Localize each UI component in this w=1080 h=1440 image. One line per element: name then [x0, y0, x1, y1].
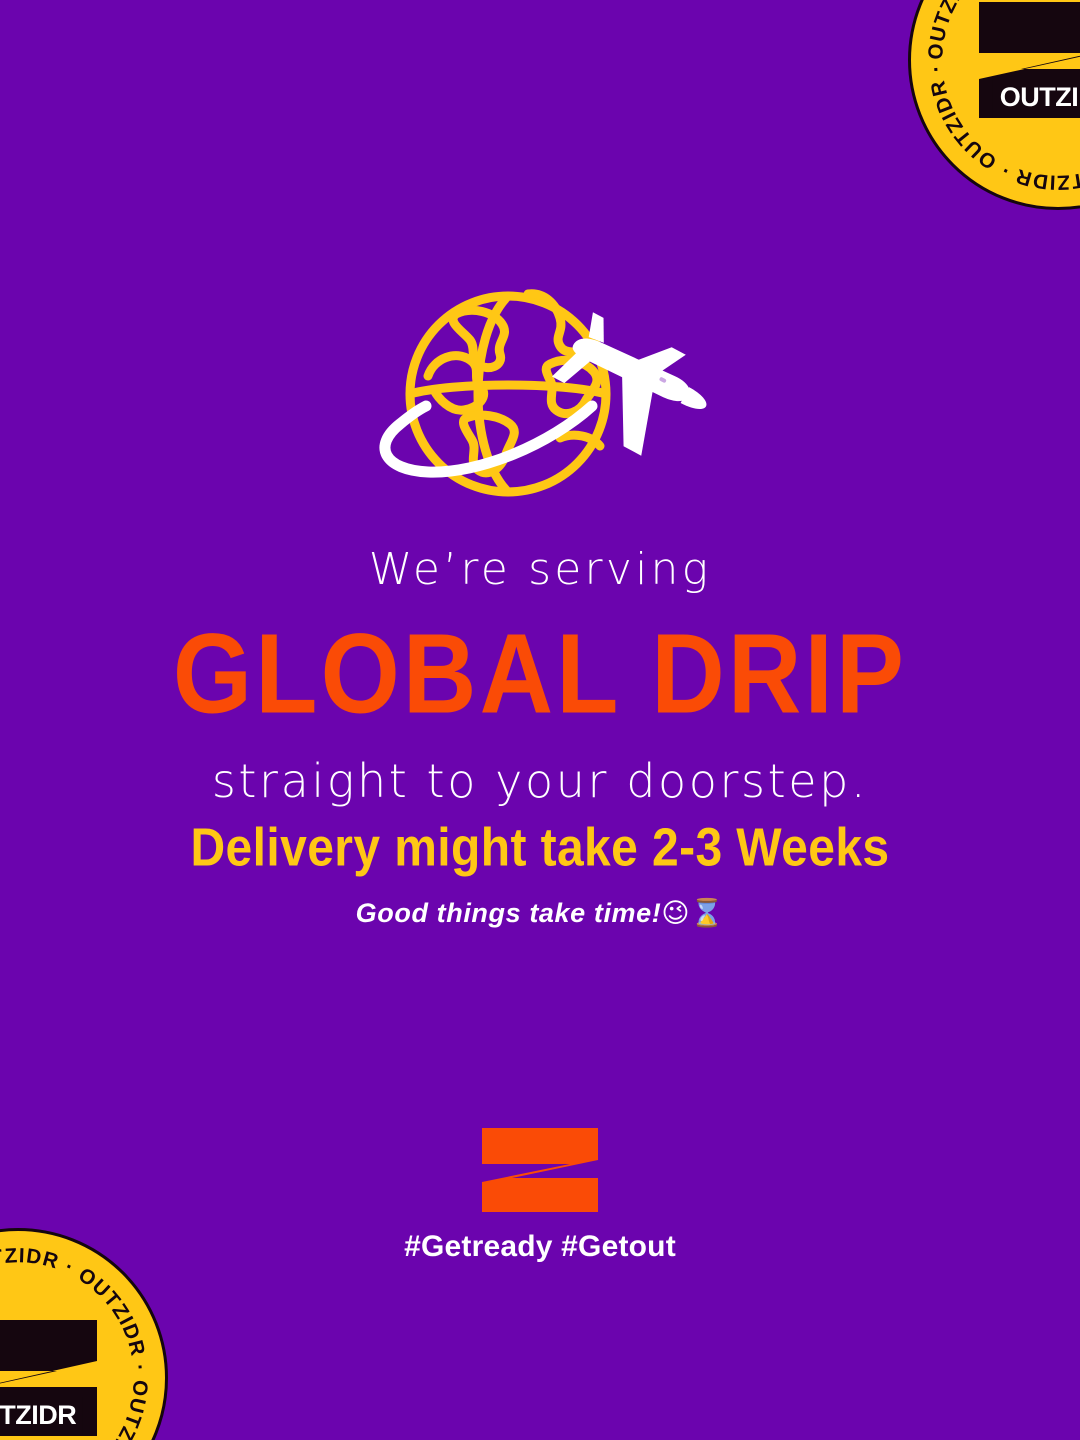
delivery-subline-row: Good things take time!😉⌛: [0, 900, 1080, 927]
headline-tail: straight to your doorstep.: [0, 758, 1080, 804]
stamp-z-mark-top-right: OUTZIDR: [973, 0, 1080, 121]
delivery-headline: Delivery might take 2-3 Weeks: [0, 822, 1080, 876]
stamp-wordmark-bottom-left: OUTZIDR: [0, 1397, 83, 1435]
outzidr-stamp-bottom-left: OUTZIDR · OUTZIDR · OUTZIDR · OUTZIDR · …: [0, 1228, 168, 1440]
delivery-subline: Good things take time!: [356, 898, 662, 928]
headline-feature: GLOBAL DRIP: [0, 618, 1080, 731]
stamp-wordmark-top-right: OUTZIDR: [993, 79, 1080, 117]
globe-airplane-icon: [360, 278, 720, 510]
hourglass-icon: ⌛: [690, 898, 724, 929]
outzidr-z-logo-icon: [478, 1126, 602, 1214]
delivery-notice: Delivery might take 2-3 Weeks Good thing…: [0, 822, 1080, 927]
outzidr-stamp-top-right: OUTZIDR · OUTZIDR · OUTZIDR · OUTZIDR · …: [908, 0, 1080, 210]
wink-face-icon: 😉: [661, 898, 690, 929]
stamp-z-mark-bottom-left: OUTZIDR: [0, 1317, 103, 1439]
poster-canvas: We’re serving GLOBAL DRIP straight to yo…: [0, 0, 1080, 1440]
headline-eyebrow: We’re serving: [0, 548, 1080, 592]
headline-block: We’re serving GLOBAL DRIP straight to yo…: [0, 548, 1080, 804]
